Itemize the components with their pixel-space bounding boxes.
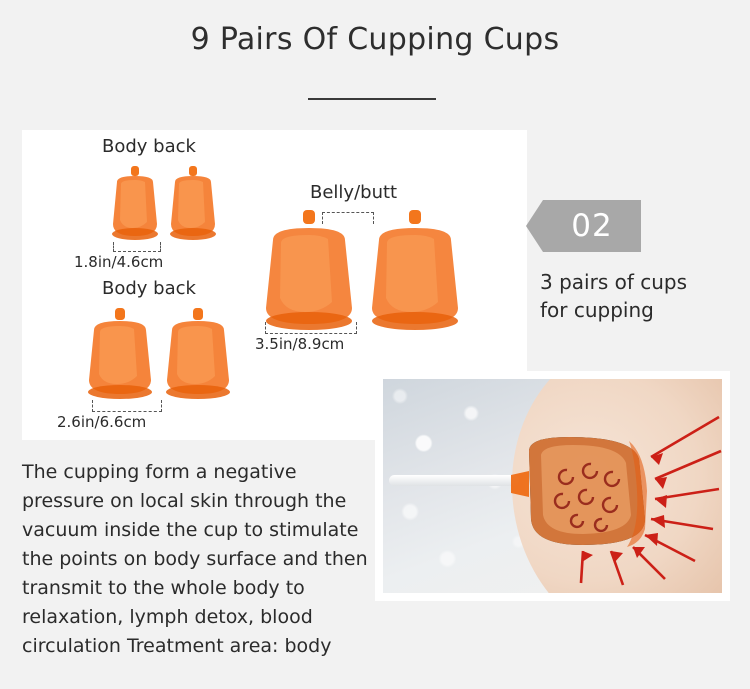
cupping-demo-photo	[383, 379, 722, 593]
cup-small-2	[165, 166, 221, 242]
cup-dimension-3: 3.5in/8.9cm	[255, 335, 344, 353]
cup-dimension-1: 1.8in/4.6cm	[74, 253, 163, 271]
title-divider	[308, 98, 436, 100]
cup-group-label-1: Body back	[102, 136, 196, 157]
photo-card	[375, 371, 730, 601]
step-number: 02	[571, 208, 612, 244]
photo-cup-overlay	[383, 379, 722, 593]
step-description-line2: for cupping	[540, 296, 746, 324]
step-number-badge: 02	[543, 200, 641, 252]
page-title: 9 Pairs Of Cupping Cups	[0, 22, 750, 57]
page-root: 9 Pairs Of Cupping Cups Body back 1.8in/…	[0, 0, 750, 689]
cup-dimension-2: 2.6in/6.6cm	[57, 413, 146, 431]
cup-medium-1	[82, 308, 158, 402]
cup-medium-2	[160, 308, 236, 402]
dimension-bracket-3	[265, 322, 357, 334]
cup-group-label-3: Belly/butt	[310, 182, 397, 203]
dimension-bracket-2	[92, 400, 162, 412]
cup-small-1	[107, 166, 163, 242]
cup-large-1	[259, 210, 359, 334]
step-description-line1: 3 pairs of cups	[540, 268, 746, 296]
step-description: 3 pairs of cups for cupping	[540, 268, 746, 324]
cup-group-label-2: Body back	[102, 278, 196, 299]
cup-large-2	[365, 210, 465, 334]
dimension-bracket-1	[113, 242, 161, 252]
description-paragraph: The cupping form a negative pressure on …	[22, 458, 372, 661]
